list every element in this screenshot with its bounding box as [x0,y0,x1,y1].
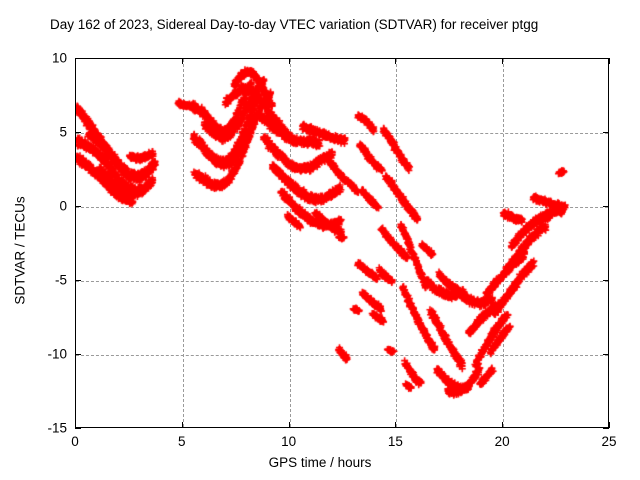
y-tick-mark [603,206,609,207]
x-axis-title: GPS time / hours [0,455,640,470]
x-tick-mark [502,422,503,428]
x-tick-mark [75,58,76,64]
x-tick-label: 20 [472,434,532,449]
x-tick-mark [289,422,290,428]
y-tick-mark [75,354,81,355]
y-tick-label: 10 [7,51,67,66]
y-tick-mark [75,428,81,429]
scatter-data-layer [76,59,609,428]
y-tick-label: -10 [7,347,67,362]
y-axis-title: SDTVAR / TECUs [13,161,28,341]
y-tick-label: 5 [7,125,67,140]
x-tick-mark [395,422,396,428]
y-tick-mark [603,428,609,429]
x-tick-label: 25 [579,434,639,449]
y-tick-mark [75,132,81,133]
x-tick-label: 0 [45,434,105,449]
x-tick-mark [395,58,396,64]
y-tick-mark [603,132,609,133]
y-tick-mark [75,280,81,281]
x-tick-mark [182,422,183,428]
x-tick-label: 5 [152,434,212,449]
x-tick-mark [182,58,183,64]
y-tick-mark [75,206,81,207]
plot-frame [75,58,609,428]
x-tick-mark [609,58,610,64]
plot-root: Day 162 of 2023, Sidereal Day-to-day VTE… [0,0,640,480]
x-tick-label: 15 [365,434,425,449]
x-tick-label: 10 [259,434,319,449]
x-tick-mark [502,58,503,64]
x-tick-mark [75,422,76,428]
x-tick-mark [289,58,290,64]
page-title: Day 162 of 2023, Sidereal Day-to-day VTE… [50,17,538,32]
x-tick-mark [609,422,610,428]
y-tick-mark [603,280,609,281]
y-tick-mark [603,354,609,355]
